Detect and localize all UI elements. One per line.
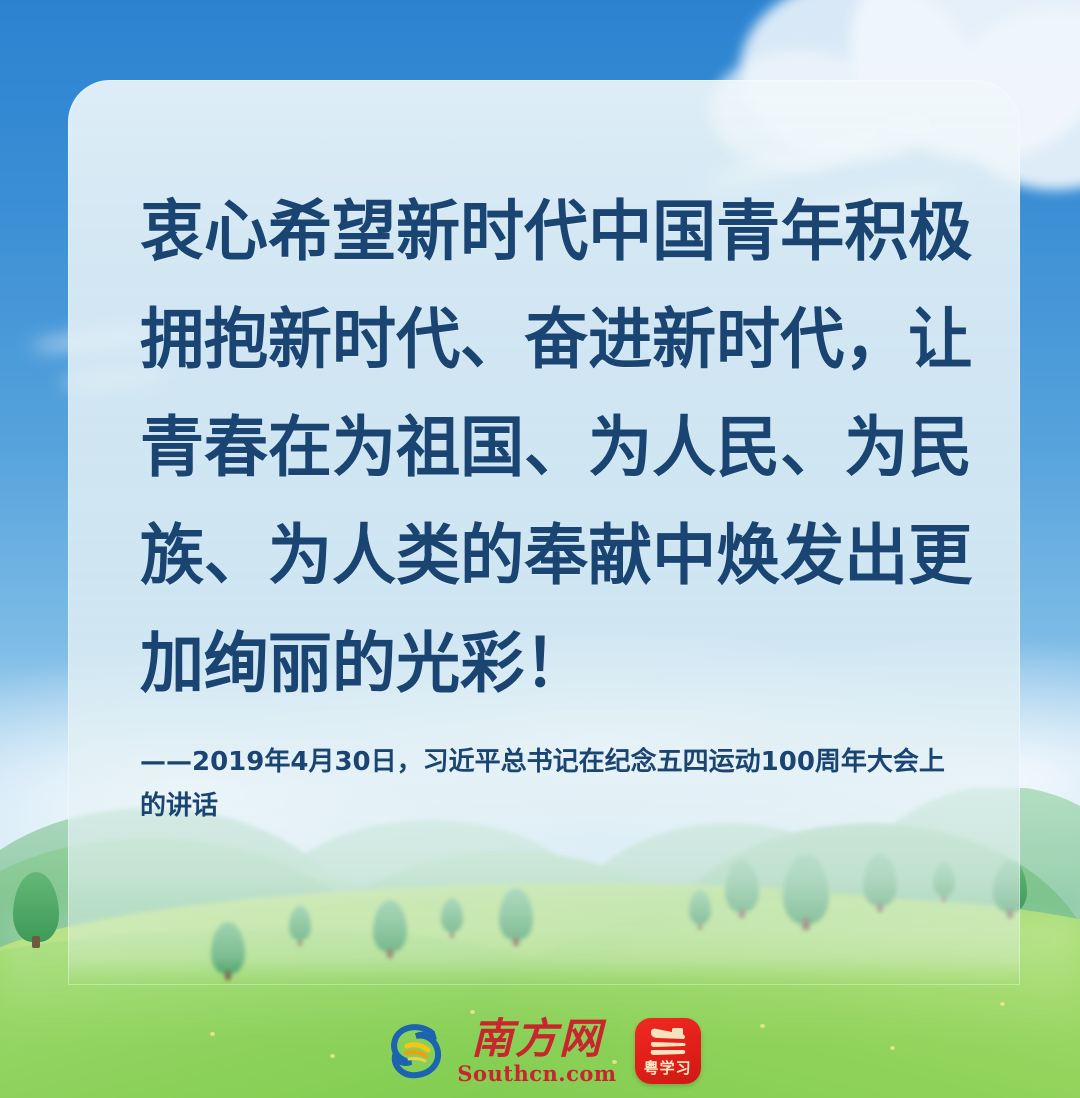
yuexuexi-label: 粤学习 — [644, 1057, 692, 1078]
quote-line: 拥抱新时代、奋进新时代，让 — [140, 286, 935, 394]
southcn-mark-icon — [387, 1020, 447, 1082]
southcn-logo[interactable]: 南方网 Southcn.com — [387, 1018, 616, 1084]
quote-line: 衷心希望新时代中国青年积极 — [140, 178, 935, 286]
quote-line: 族、为人类的奉献中焕发出更 — [140, 502, 935, 610]
logo-row: 南方网 Southcn.com 粤学习 — [68, 1005, 1020, 1097]
quote-text: 衷心希望新时代中国青年积极 拥抱新时代、奋进新时代，让 青春在为祖国、为人民、为… — [140, 178, 960, 718]
yuexuexi-app-icon[interactable]: 粤学习 — [635, 1018, 701, 1084]
southcn-cn-name: 南方网 — [471, 1018, 603, 1060]
quote-card: 衷心希望新时代中国青年积极 拥抱新时代、奋进新时代，让 青春在为祖国、为人民、为… — [68, 80, 1020, 985]
yuexuexi-book-icon — [648, 1026, 688, 1060]
poster-root: 衷心希望新时代中国青年积极 拥抱新时代、奋进新时代，让 青春在为祖国、为人民、为… — [0, 0, 1080, 1098]
quote-line: 青春在为祖国、为人民、为民 — [140, 394, 935, 502]
southcn-en-name: Southcn.com — [457, 1063, 616, 1084]
quote-attribution: ——2019年4月30日，习近平总书记在纪念五四运动100周年大会上的讲话 — [140, 740, 970, 828]
quote-line: 加绚丽的光彩！ — [140, 610, 935, 718]
